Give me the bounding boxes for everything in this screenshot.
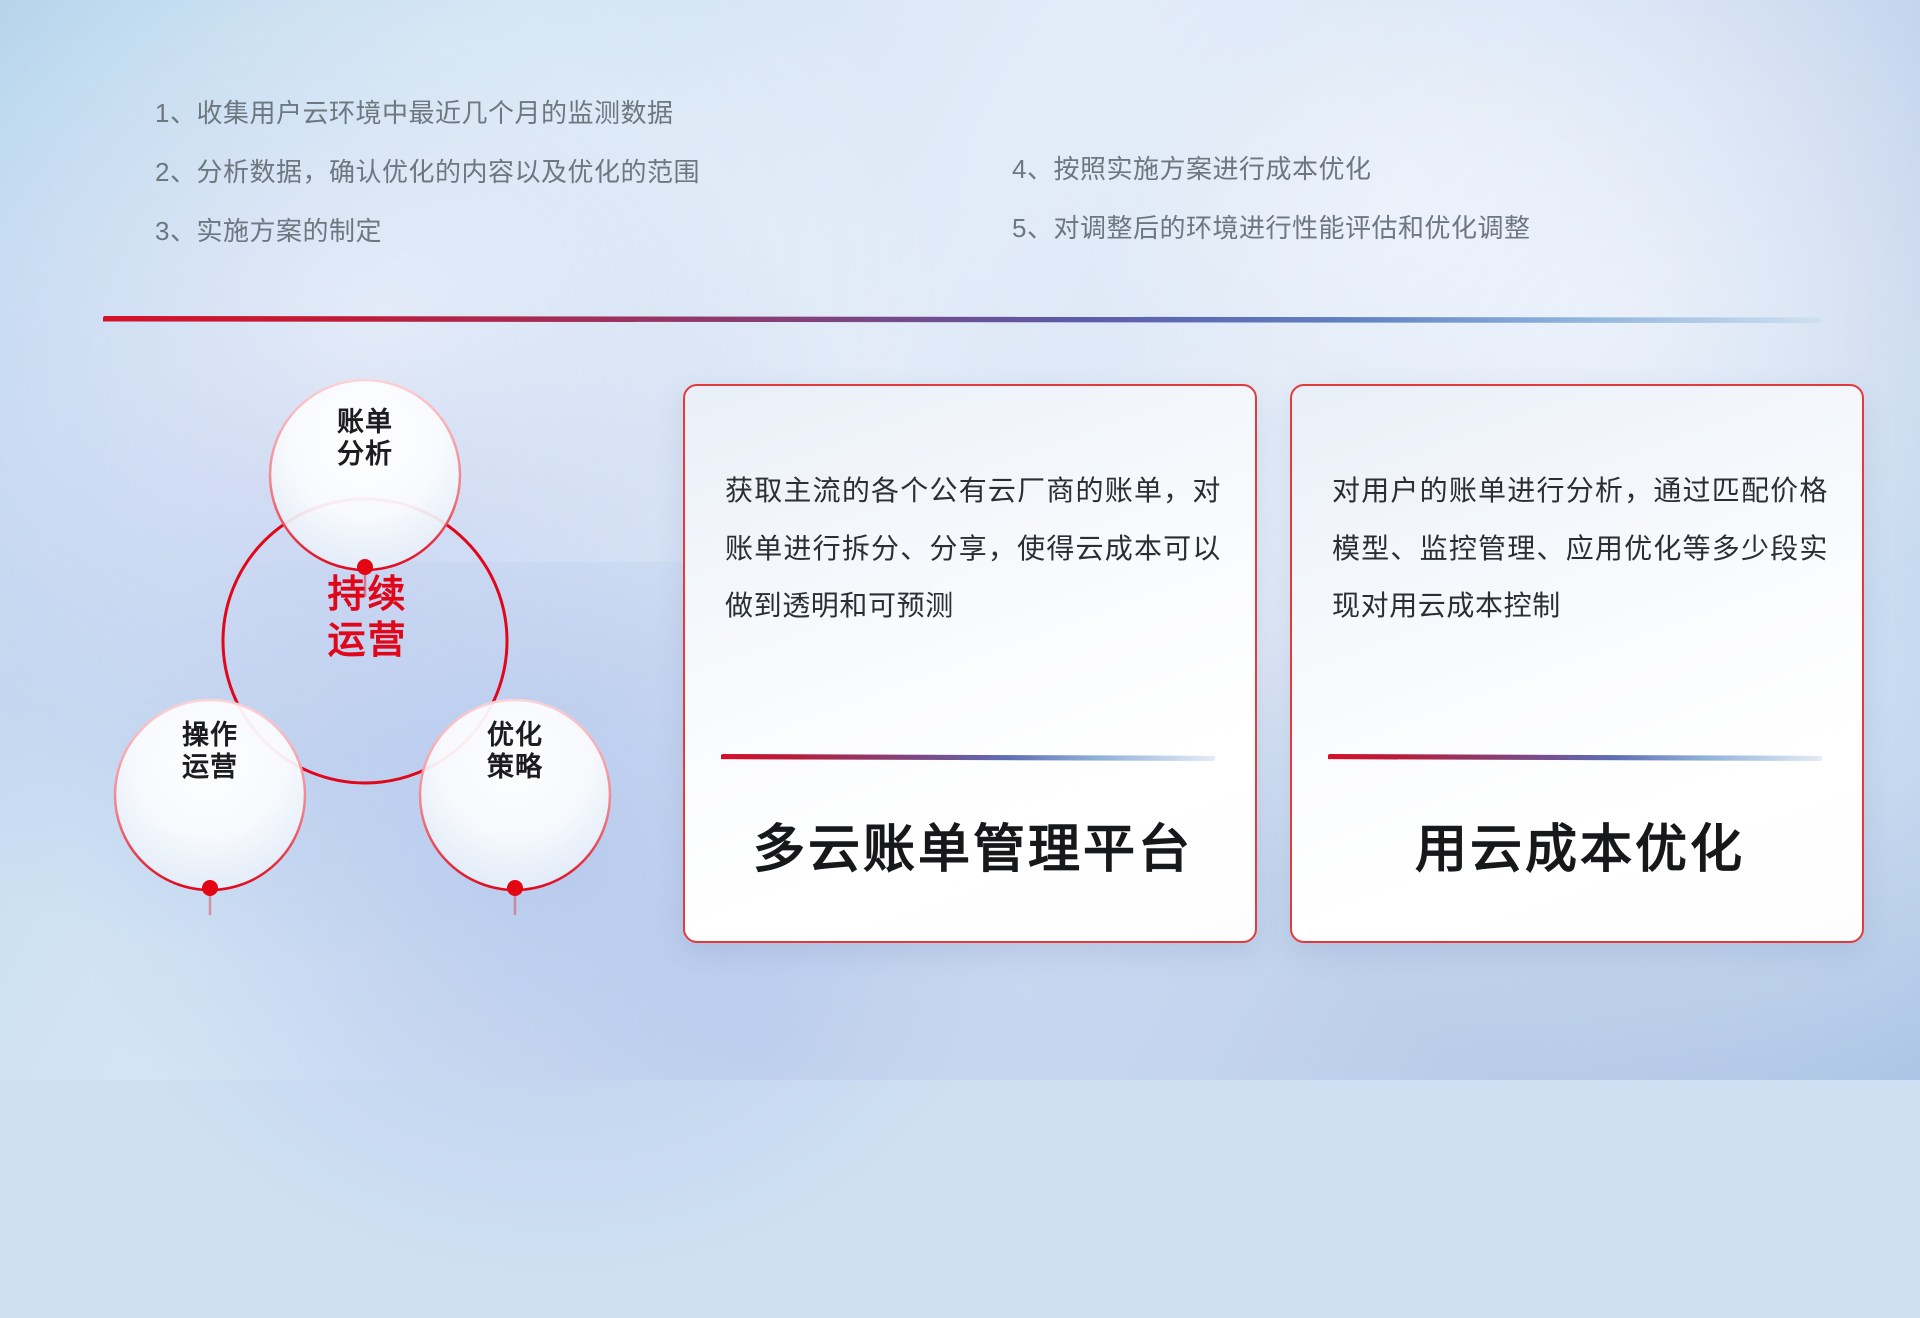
continuous-operation-diagram: 账单 分析 操作 运营 优化 策略 持续 运营 (95, 355, 615, 965)
circle-label-line-2: 分析 (290, 439, 440, 471)
center-label-line-2: 运营 (280, 619, 455, 665)
center-label-continuous-operation: 持续 运营 (280, 573, 455, 664)
circle-label-operations: 操作 运营 (135, 720, 285, 784)
circle-label-line-1: 优化 (440, 720, 590, 752)
circle-label-line-1: 账单 (290, 407, 440, 439)
node-dot-bottom-left (202, 880, 218, 896)
step-item-4: 4、按照实施方案进行成本优化 (1012, 156, 1530, 182)
circle-label-line-2: 策略 (440, 752, 590, 784)
card-multi-cloud-billing-platform[interactable]: 获取主流的各个公有云厂商的账单，对账单进行拆分、分享，使得云成本可以做到透明和可… (683, 384, 1257, 943)
circle-label-optimization-strategy: 优化 策略 (440, 720, 590, 784)
card-cloud-cost-optimization[interactable]: 对用户的账单进行分析，通过匹配价格模型、监控管理、应用优化等多少段实现对用云成本… (1290, 384, 1864, 943)
card-description: 获取主流的各个公有云厂商的账单，对账单进行拆分、分享，使得云成本可以做到透明和可… (725, 462, 1221, 635)
circle-label-line-1: 操作 (135, 720, 285, 752)
circle-label-line-2: 运营 (135, 752, 285, 784)
circle-label-bill-analysis: 账单 分析 (290, 407, 440, 471)
center-label-line-1: 持续 (280, 573, 455, 619)
card-title: 多云账单管理平台 (721, 822, 1225, 879)
card-description: 对用户的账单进行分析，通过匹配价格模型、监控管理、应用优化等多少段实现对用云成本… (1332, 462, 1828, 635)
node-dot-bottom-right (507, 880, 523, 896)
step-item-2: 2、分析数据，确认优化的内容以及优化的范围 (155, 159, 700, 185)
step-item-1: 1、收集用户云环境中最近几个月的监测数据 (155, 100, 700, 126)
step-item-5: 5、对调整后的环境进行性能评估和优化调整 (1012, 215, 1530, 241)
step-item-3: 3、实施方案的制定 (155, 218, 700, 244)
steps-list-left: 1、收集用户云环境中最近几个月的监测数据 2、分析数据，确认优化的内容以及优化的… (155, 100, 700, 277)
card-accent-rule (721, 754, 1215, 761)
card-accent-rule (1328, 754, 1822, 761)
card-title: 用云成本优化 (1328, 822, 1832, 879)
steps-list-right: 4、按照实施方案进行成本优化 5、对调整后的环境进行性能评估和优化调整 (1012, 156, 1530, 274)
